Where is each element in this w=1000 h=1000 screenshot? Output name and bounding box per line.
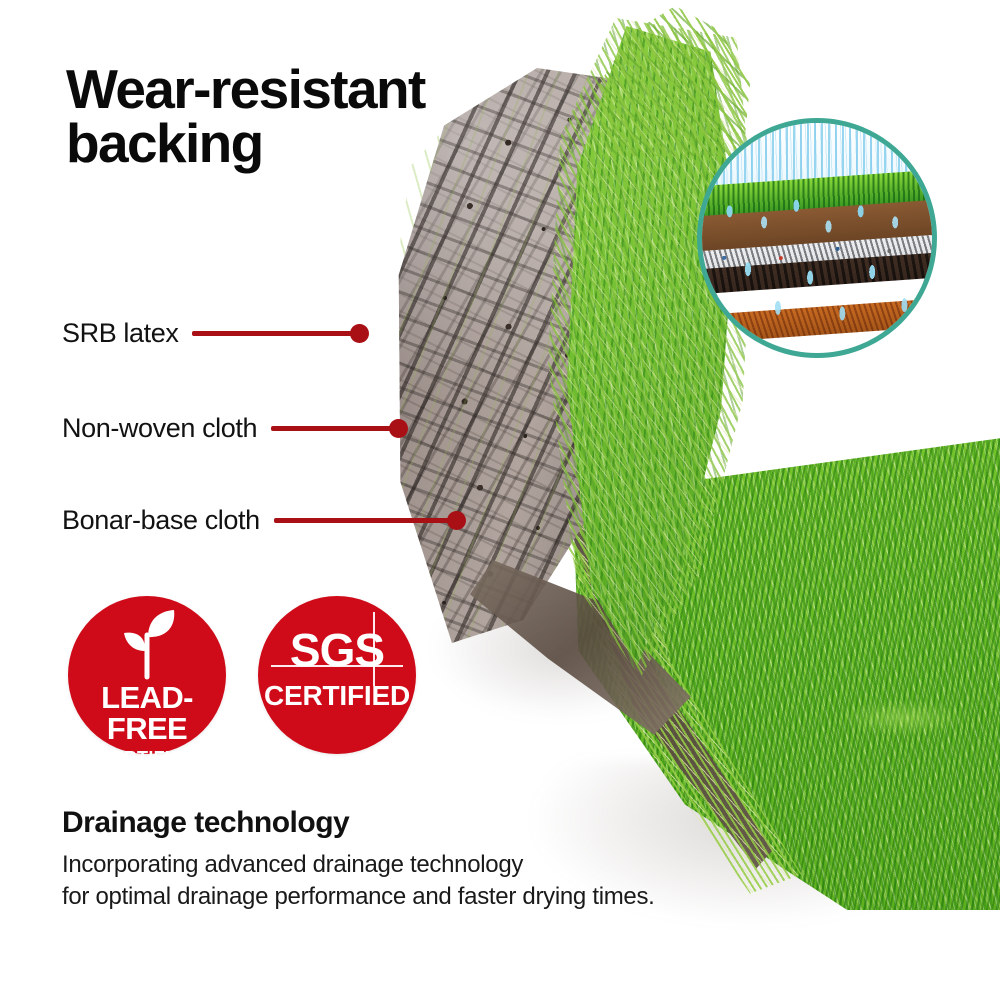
badge-lead-free-certified: LEAD-FREE CERTIFIED	[68, 596, 226, 754]
infographic-canvas: Wear-resistant backing SRB latex Non-wov…	[0, 0, 1000, 1000]
callout-dot-icon	[389, 419, 408, 438]
badge-sgs-certified: SGS CERTIFIED	[258, 596, 416, 754]
callout-line	[271, 426, 391, 431]
callout-non-woven-cloth: Non-woven cloth	[62, 413, 408, 443]
sgs-crosshair-icon: SGS	[275, 620, 399, 680]
badge-main-label: LEAD-FREE	[68, 682, 226, 744]
page-title: Wear-resistant backing	[66, 62, 706, 171]
callout-label: Bonar-base cloth	[62, 505, 260, 536]
leaf-plant-icon	[110, 607, 184, 681]
sgs-vertical-rule	[373, 612, 375, 686]
callout-dot-icon	[447, 511, 466, 530]
callout-bonar-base-cloth: Bonar-base cloth	[62, 505, 466, 535]
drainage-body-text: Incorporating advanced drainage technolo…	[62, 849, 655, 913]
drainage-cross-section-diagram	[697, 118, 937, 358]
badge-sub-label: CERTIFIED	[98, 748, 196, 769]
callout-srb-latex: SRB latex	[62, 318, 369, 348]
callout-dot-icon	[350, 324, 369, 343]
badge-brand-label: SGS	[290, 627, 384, 673]
callout-line	[274, 518, 449, 523]
callout-line	[192, 331, 352, 336]
drainage-heading: Drainage technology	[62, 806, 349, 840]
callout-label: SRB latex	[62, 318, 178, 349]
badge-main-label: CERTIFIED	[264, 682, 410, 710]
water-droplets-icon	[702, 192, 932, 330]
callout-label: Non-woven cloth	[62, 413, 257, 444]
